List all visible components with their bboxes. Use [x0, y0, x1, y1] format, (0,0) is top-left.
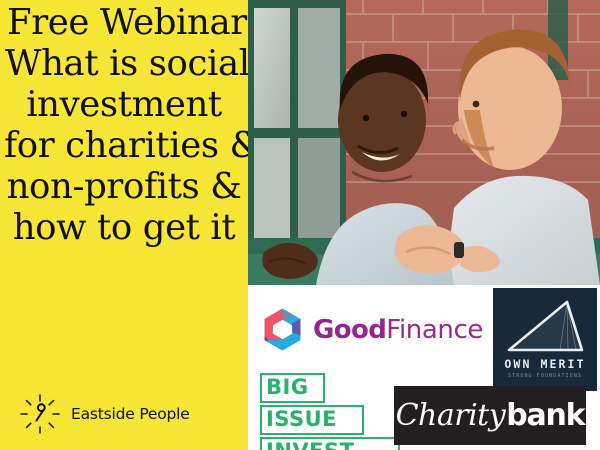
yellow-headline-panel: Free Webinar: What is social investment … [0, 0, 248, 450]
hero-photo [248, 0, 600, 285]
good-finance-word-bold: Good [313, 315, 386, 345]
partner-logo-charity-bank: Charitybank [394, 386, 586, 445]
page-title: Free Webinar: What is social investment … [0, 2, 248, 248]
sunburst-person-icon [18, 392, 62, 436]
headline-line-2: What is social [3, 43, 245, 84]
eastside-people-logo: Eastside People [18, 392, 190, 436]
good-finance-wordmark: GoodFinance [313, 317, 483, 343]
big-issue-invest-line-1: BIG [260, 373, 325, 403]
big-issue-invest-line-3: INVEST [260, 437, 400, 450]
promo-banner: Free Webinar: What is social investment … [0, 0, 600, 450]
partner-logos-strip: GoodFinance OWN MERIT STRONG FOUNDATIONS… [248, 285, 600, 450]
charity-bank-wordmark: Charitybank [396, 398, 585, 433]
own-merit-wordmark: OWN MERIT [493, 357, 597, 371]
eastside-people-wordmark: Eastside People [71, 405, 190, 423]
charity-bank-word-bold: bank [506, 398, 584, 433]
charity-bank-word-script: Charity [396, 398, 506, 433]
triangle-outline-icon [504, 298, 586, 356]
partner-logo-big-issue-invest: BIG ISSUE INVEST [260, 373, 400, 450]
own-merit-tagline: STRONG FOUNDATIONS [493, 373, 597, 379]
good-finance-word-regular: Finance [386, 315, 483, 345]
headline-line-1: Free Webinar: [3, 2, 245, 43]
photo-two-men-conversation [248, 0, 600, 285]
hexagon-ring-icon [260, 307, 305, 352]
headline-line-4: for charities & [3, 125, 245, 166]
big-issue-invest-line-2: ISSUE [260, 405, 364, 435]
headline-line-3: investment [3, 84, 245, 125]
headline-line-5: non-profits & [3, 166, 245, 207]
partner-logo-own-merit: OWN MERIT STRONG FOUNDATIONS [493, 288, 597, 391]
headline-line-6: how to get it [3, 207, 245, 248]
partner-logo-good-finance: GoodFinance [260, 307, 483, 352]
